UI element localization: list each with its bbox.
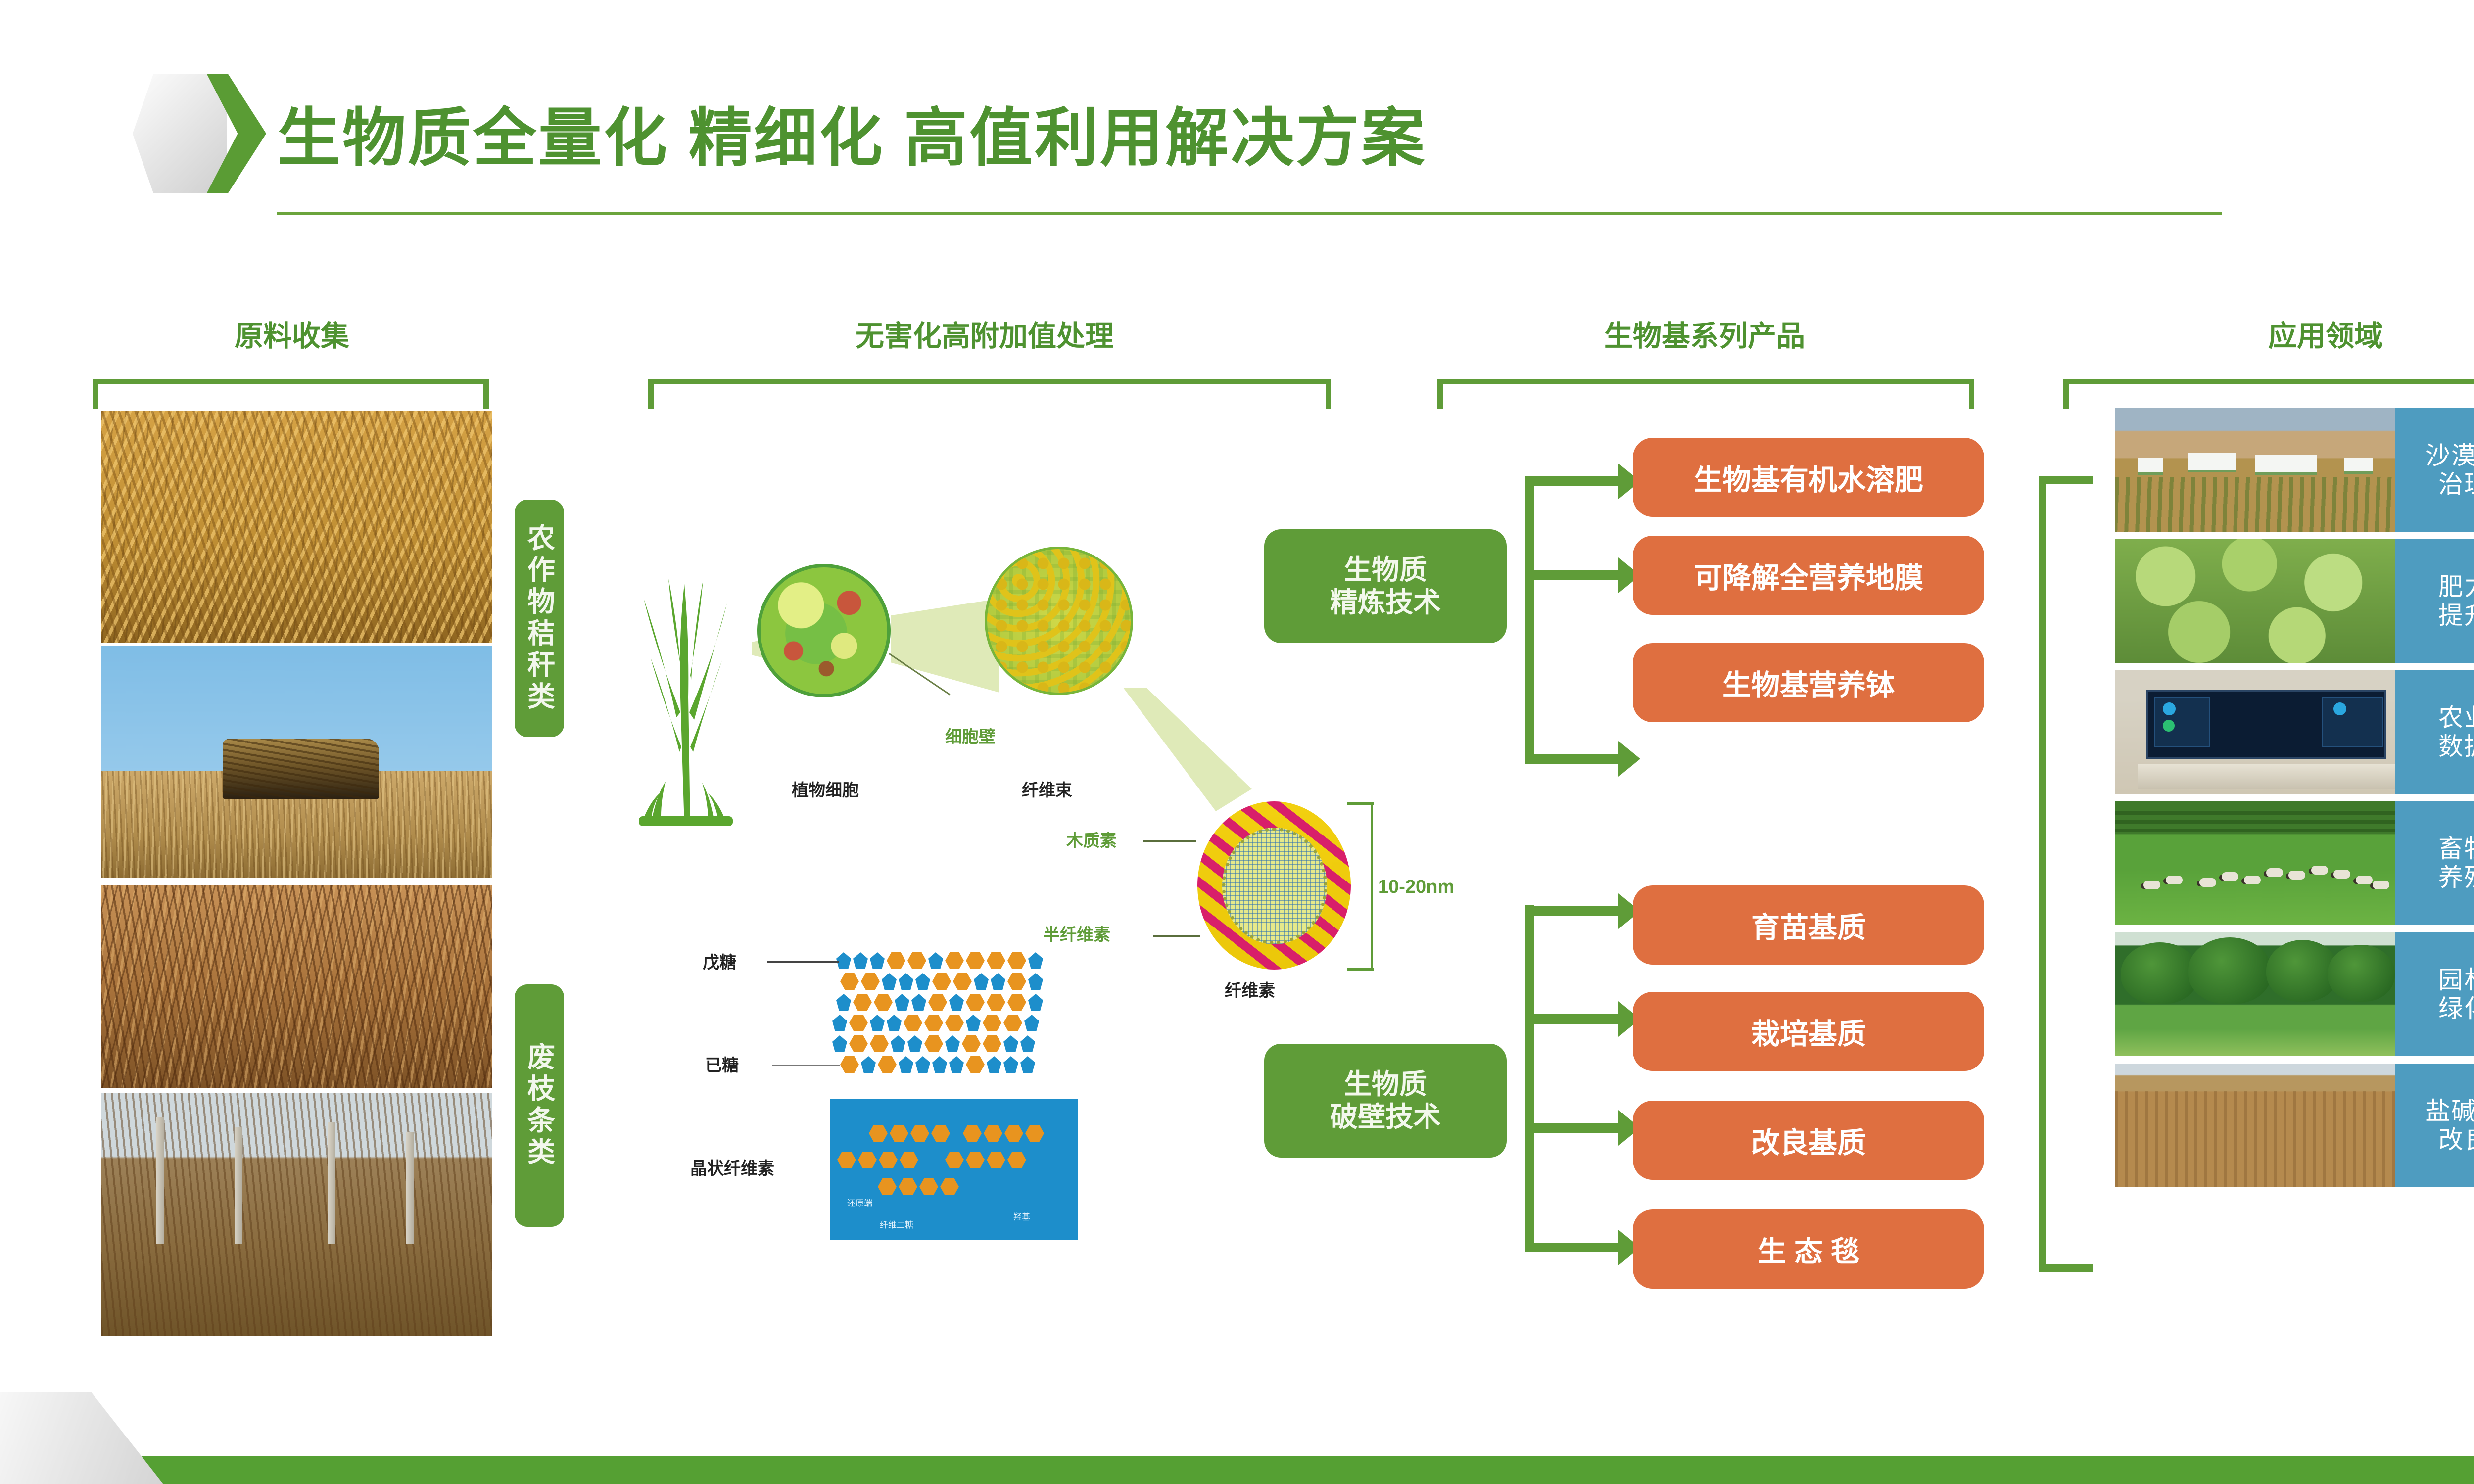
application-row-saline[interactable]: 盐碱地 改良 (2115, 1064, 2474, 1187)
biomass-cell-wall-breaking-technology-box[interactable]: 生物质 破壁技术 (1264, 1044, 1507, 1158)
application-tag-desertification-control: 沙漠化 治理 (2395, 408, 2474, 532)
plant-cell-illustration (757, 564, 891, 697)
footer-green-band (0, 1456, 2474, 1484)
product-label: 生 态 毯 (1758, 1228, 1859, 1270)
tech-1-line-1: 生物质 (1344, 554, 1427, 586)
plant-cell-label: 植物细胞 (792, 777, 859, 801)
hexagon-badge-icon (133, 74, 251, 193)
application-bracket-bottom (2039, 1264, 2093, 1272)
product-bio-nutrient-pot[interactable]: 生物基营养钵 (1633, 643, 1984, 722)
dimension-label: 10-20nm (1378, 877, 1454, 898)
app-tag-line-1: 肥力 (2438, 572, 2474, 601)
product-cultivation-substrate[interactable]: 栽培基质 (1633, 992, 1984, 1071)
section-header-harmless-processing: 无害化高附加值处理 (633, 313, 1336, 354)
product-ecological-blanket[interactable]: 生 态 毯 (1633, 1209, 1984, 1289)
tech-2-line-1: 生物质 (1344, 1068, 1427, 1101)
application-row-fertility[interactable]: 肥力 提升 (2115, 539, 2474, 663)
connector-arrow-2c (1525, 1123, 1619, 1133)
crystalline-cellulose-label: 晶状纤维素 (690, 1155, 774, 1179)
cellulose-label: 纤维素 (1225, 977, 1275, 1001)
application-tag-livestock-breeding: 畜牧 养殖 (2395, 801, 2474, 925)
cabbage-field-photo (2115, 539, 2395, 663)
connector-spine-1 (1525, 476, 1534, 763)
section-bracket-2 (648, 379, 1331, 409)
hemicellulose-label: 半纤维素 (1043, 921, 1110, 945)
app-tag-line-1: 盐碱地 (2426, 1097, 2474, 1125)
biomass-refining-technology-box[interactable]: 生物质 精炼技术 (1264, 529, 1507, 643)
application-bracket-spine (2039, 476, 2046, 1272)
park-greenery-photo (2115, 932, 2395, 1056)
cellulose-core (1222, 828, 1327, 944)
product-label: 可降解全营养地膜 (1694, 555, 1923, 596)
saline-field-photo (2115, 1064, 2395, 1187)
app-tag-line-2: 绿化 (2438, 994, 2474, 1023)
connector-arrow-1c (1525, 754, 1619, 764)
cell-wall-label: 细胞壁 (945, 723, 996, 747)
connector-arrow-2b (1525, 1014, 1619, 1024)
grass-plant-icon (621, 549, 750, 826)
waste-branch-tag-label: 废枝条类 (520, 1042, 560, 1169)
connector-arrow-1b (1525, 570, 1619, 580)
grazing-sheep-photo (2115, 801, 2395, 925)
app-tag-line-1: 畜牧 (2438, 835, 2474, 863)
tech-2-line-2: 破壁技术 (1330, 1101, 1441, 1133)
product-label: 改良基质 (1751, 1119, 1866, 1161)
orchard-pruning-photo (101, 1093, 492, 1336)
product-improvement-substrate[interactable]: 改良基质 (1633, 1101, 1984, 1180)
app-tag-line-2: 治理 (2438, 470, 2474, 499)
product-label: 育苗基质 (1751, 904, 1866, 946)
dimension-line (1371, 802, 1373, 971)
dimension-tick-top (1347, 802, 1374, 805)
product-label: 栽培基质 (1751, 1011, 1866, 1052)
section-bracket-3 (1437, 379, 1974, 409)
product-degradable-mulch-film[interactable]: 可降解全营养地膜 (1633, 536, 1984, 615)
hexose-label: 已糖 (705, 1052, 739, 1076)
section-bracket-1 (93, 379, 489, 409)
section-header-raw-material-collection: 原料收集 (89, 313, 495, 354)
section-header-bio-products: 生物基系列产品 (1425, 313, 1984, 354)
application-row-agri-data[interactable]: 农业 数据 (2115, 670, 2474, 794)
title-divider (277, 212, 2222, 215)
magnify-beam-2 (891, 599, 999, 693)
fiber-bundle-illustration (985, 547, 1133, 695)
application-tag-agricultural-data: 农业 数据 (2395, 670, 2474, 794)
pentose-label: 戊糖 (703, 949, 736, 973)
application-row-livestock[interactable]: 畜牧 养殖 (2115, 801, 2474, 925)
page-title: 生物质全量化 精细化 高值利用解决方案 (277, 87, 1427, 178)
hexagon-grey-shape (133, 74, 227, 193)
product-seedling-substrate[interactable]: 育苗基质 (1633, 885, 1984, 965)
app-tag-line-2: 改良 (2438, 1125, 2474, 1154)
application-row-desertification[interactable]: 沙漠化 治理 (2115, 408, 2474, 532)
corn-stalks-photo (101, 411, 492, 643)
application-bracket-top (2039, 476, 2093, 484)
crystalline-cellulose-illustration: 还原端 纤维二糖 羟基 (830, 1099, 1078, 1240)
data-control-room-photo (2115, 670, 2395, 794)
infographic-slide: 生物质全量化 精细化 高值利用解决方案 原料收集 无害化高附加值处理 生物基系列… (0, 0, 2474, 1484)
fiber-bundle-label: 纤维束 (1022, 777, 1072, 801)
tech-1-line-2: 精炼技术 (1330, 586, 1441, 619)
product-label: 生物基营养钵 (1722, 662, 1895, 703)
connector-arrow-1a (1525, 476, 1619, 486)
lignin-label: 木质素 (1066, 827, 1117, 851)
hemicellulose-leader-line (1153, 935, 1200, 937)
product-bio-organic-fertilizer[interactable]: 生物基有机水溶肥 (1633, 438, 1984, 517)
application-tag-fertility-improvement: 肥力 提升 (2395, 539, 2474, 663)
pruned-branches-photo (101, 885, 492, 1088)
connector-spine-2 (1525, 905, 1534, 1252)
app-tag-line-1: 沙漠化 (2426, 441, 2474, 470)
desert-restoration-photo (2115, 408, 2395, 532)
app-tag-line-2: 养殖 (2438, 863, 2474, 892)
application-tag-landscape-greening: 园林 绿化 (2395, 932, 2474, 1056)
app-tag-line-2: 数据 (2438, 732, 2474, 761)
section-header-application-fields: 应用领域 (2103, 313, 2474, 354)
product-label: 生物基有机水溶肥 (1694, 457, 1923, 498)
connector-arrow-2a (1525, 906, 1619, 916)
app-tag-line-2: 提升 (2438, 601, 2474, 630)
section-bracket-4 (2063, 379, 2474, 409)
app-tag-line-1: 农业 (2438, 703, 2474, 732)
magnify-beam-3 (1123, 688, 1252, 811)
waste-branch-tag: 废枝条类 (515, 984, 564, 1227)
crop-straw-tag: 农作物秸秆类 (515, 500, 564, 737)
app-tag-line-1: 园林 (2438, 966, 2474, 994)
crop-straw-tag-label: 农作物秸秆类 (520, 523, 560, 713)
application-tag-saline-alkali-improvement: 盐碱地 改良 (2395, 1064, 2474, 1187)
straw-bale-photo (101, 646, 492, 878)
dimension-tick-bottom (1347, 968, 1374, 971)
footer-grey-accent (0, 1392, 163, 1484)
lignin-leader-line (1143, 840, 1196, 842)
pentose-leader-line (767, 961, 839, 963)
hexose-leader-line (772, 1065, 840, 1066)
connector-arrow-2d (1525, 1243, 1619, 1252)
application-row-landscape[interactable]: 园林 绿化 (2115, 932, 2474, 1056)
